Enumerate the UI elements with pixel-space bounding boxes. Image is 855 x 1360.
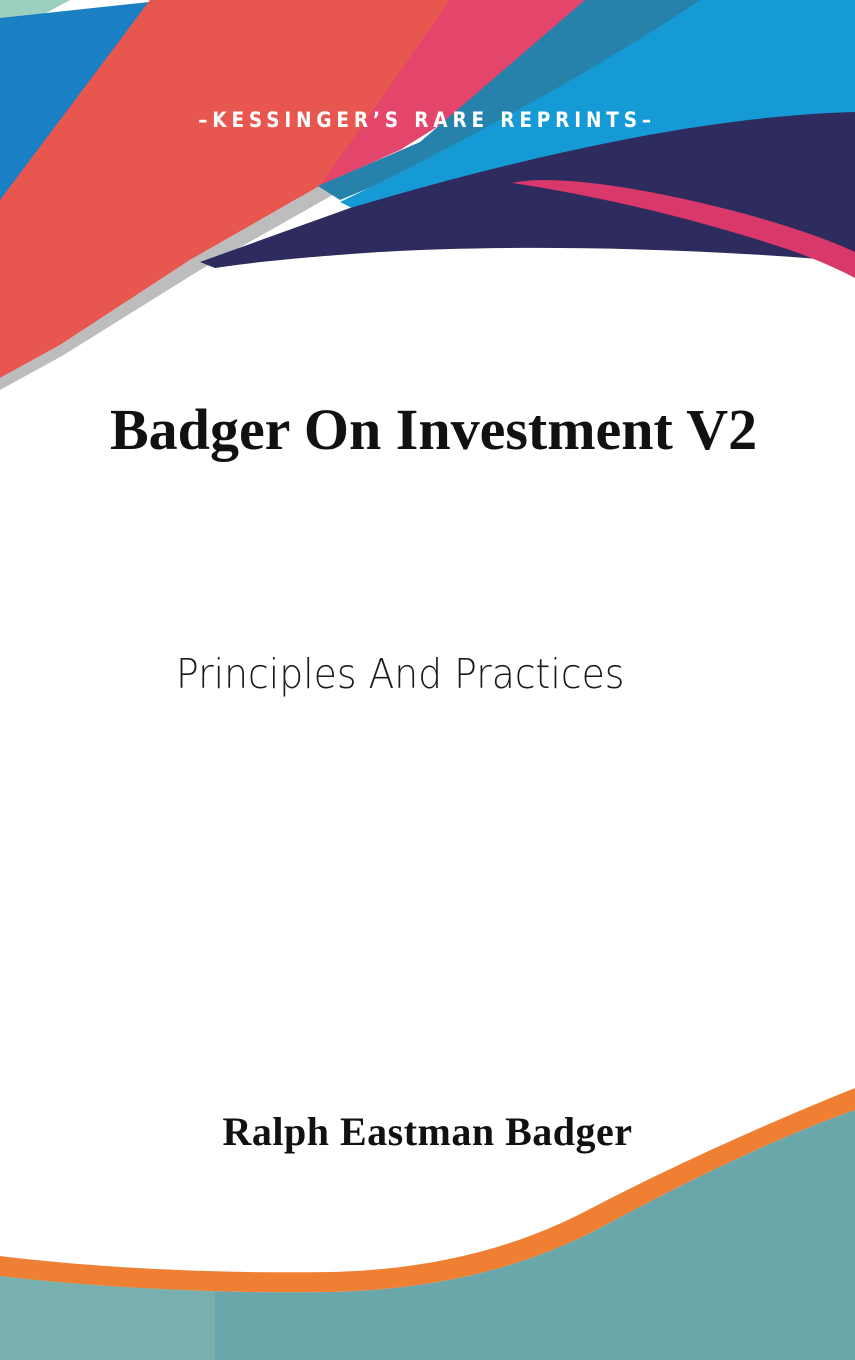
book-subtitle: Principles And Practices (176, 650, 765, 699)
imprint-banner: –KESSINGER’S RARE REPRINTS– (0, 108, 855, 132)
cover-text-block: Badger On Investment V2 Principles And P… (0, 0, 855, 1360)
imprint-label: –KESSINGER’S RARE REPRINTS– (199, 108, 657, 132)
book-cover: –KESSINGER’S RARE REPRINTS– Badger On In… (0, 0, 855, 1360)
book-author: Ralph Eastman Badger (0, 1108, 855, 1155)
page-title: Badger On Investment V2 (110, 392, 770, 469)
